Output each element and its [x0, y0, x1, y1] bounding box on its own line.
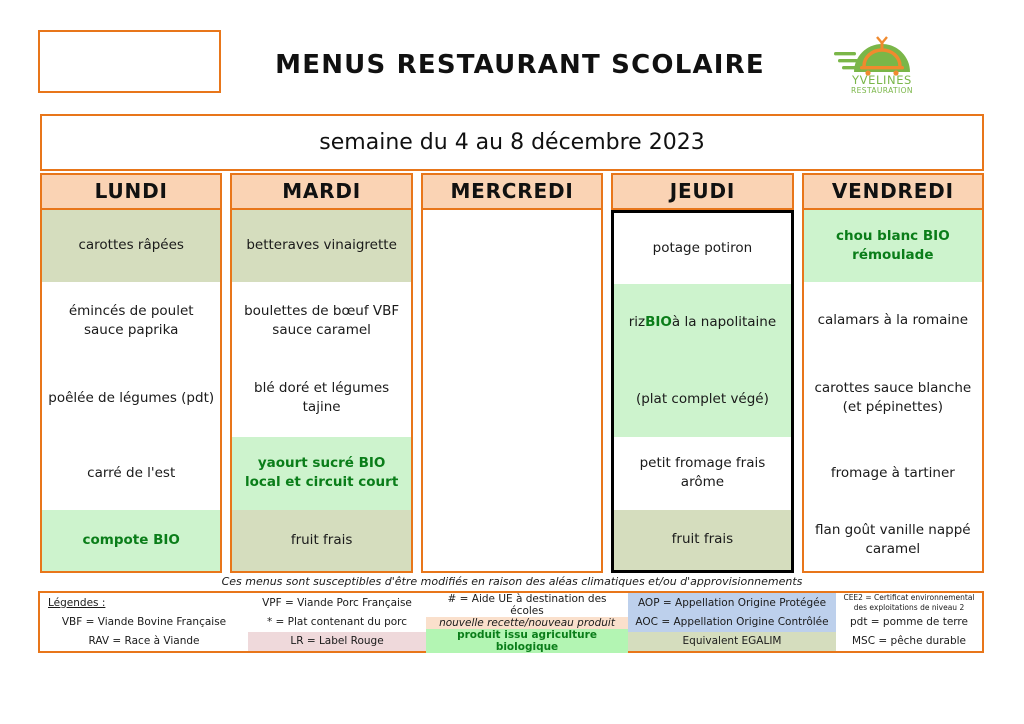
menu-item: carottes râpées: [42, 210, 220, 282]
menu-item: carré de l'est: [42, 437, 220, 510]
legend-entry: * = Plat contenant du porc: [248, 612, 426, 631]
menu-item: émincés de poulet sauce paprika: [42, 282, 220, 359]
legend-column-1: VPF = Viande Porc Française* = Plat cont…: [248, 593, 426, 651]
menu-item: [423, 437, 601, 510]
week-banner: semaine du 4 au 8 décembre 2023: [40, 114, 984, 171]
day-body-mercredi: [421, 210, 603, 573]
menu-item: [423, 510, 601, 571]
menu-item: blé doré et légumes tajine: [232, 359, 410, 436]
legend-entry: Légendes :: [40, 593, 248, 612]
menu-item: petit fromage frais arôme: [614, 437, 790, 509]
day-column-mardi: MARDIbetteraves vinaigretteboulettes de …: [230, 173, 412, 573]
day-header-mardi: MARDI: [230, 173, 412, 210]
day-column-vendredi: VENDREDIchou blanc BIO rémouladecalamars…: [802, 173, 984, 573]
legend-entry: AOP = Appellation Origine Protégée: [628, 593, 836, 612]
brand-name-line2: RESTAURATION: [851, 86, 913, 95]
menu-item: compote BIO: [42, 510, 220, 571]
school-logo-placeholder-box: [38, 30, 221, 93]
menu-item: [423, 359, 601, 436]
day-header-lundi: LUNDI: [40, 173, 222, 210]
day-body-jeudi: potage potironriz BIO à la napolitaine(p…: [611, 210, 793, 573]
menu-item: yaourt sucré BIO local et circuit court: [232, 437, 410, 510]
menu-item: potage potiron: [614, 213, 790, 284]
legend-entry: RAV = Race à Viande: [40, 632, 248, 651]
legend-entry: nouvelle recette/nouveau produit: [426, 617, 628, 629]
legend-column-2: # = Aide UE à destination des écolesnouv…: [426, 593, 628, 651]
legend-entry: VPF = Viande Porc Française: [248, 593, 426, 612]
menu-item: fruit frais: [232, 510, 410, 571]
menu-item: calamars à la romaine: [804, 282, 982, 359]
menu-item: betteraves vinaigrette: [232, 210, 410, 282]
page-title: MENUS RESTAURANT SCOLAIRE: [240, 50, 800, 80]
menu-item: poêlée de légumes (pdt): [42, 359, 220, 436]
legend-column-3: AOP = Appellation Origine ProtégéeAOC = …: [628, 593, 836, 651]
menu-grid: LUNDIcarottes râpéesémincés de poulet sa…: [40, 173, 984, 573]
day-header-jeudi: JEUDI: [611, 173, 793, 210]
legend-entry: pdt = pomme de terre: [836, 612, 982, 631]
day-body-lundi: carottes râpéesémincés de poulet sauce p…: [40, 210, 222, 573]
menu-item: riz BIO à la napolitaine: [614, 284, 790, 361]
menu-item: fruit frais: [614, 510, 790, 570]
menu-item: [423, 210, 601, 282]
week-label: semaine du 4 au 8 décembre 2023: [42, 116, 982, 169]
menu-item: (plat complet végé): [614, 361, 790, 438]
menu-item: fromage à tartiner: [804, 437, 982, 510]
legend-entry: # = Aide UE à destination des écoles: [426, 593, 628, 617]
menu-item: chou blanc BIO rémoulade: [804, 210, 982, 282]
menu-disclaimer: Ces menus sont susceptibles d'être modif…: [40, 575, 984, 588]
legend-entry: CEE2 = Certificat environnemental des ex…: [836, 593, 982, 612]
legend-entry: MSC = pêche durable: [836, 632, 982, 651]
day-column-lundi: LUNDIcarottes râpéesémincés de poulet sa…: [40, 173, 222, 573]
day-column-mercredi: MERCREDI: [421, 173, 603, 573]
bio-marker: BIO: [645, 313, 672, 332]
day-column-jeudi: JEUDIpotage potironriz BIO à la napolita…: [611, 173, 793, 573]
legend-title: Légendes :: [48, 597, 105, 609]
menu-item: boulettes de bœuf VBF sauce caramel: [232, 282, 410, 359]
legend-entry: Equivalent EGALIM: [628, 632, 836, 651]
day-body-mardi: betteraves vinaigretteboulettes de bœuf …: [230, 210, 412, 573]
menu-item: [423, 282, 601, 359]
day-header-mercredi: MERCREDI: [421, 173, 603, 210]
page-header: MENUS RESTAURANT SCOLAIRE YVELINES RESTA…: [0, 0, 1024, 112]
day-header-vendredi: VENDREDI: [802, 173, 984, 210]
legend-column-4: CEE2 = Certificat environnemental des ex…: [836, 593, 982, 651]
legend-entry: AOC = Appellation Origine Contrôlée: [628, 612, 836, 631]
legend-entry: LR = Label Rouge: [248, 632, 426, 651]
day-body-vendredi: chou blanc BIO rémouladecalamars à la ro…: [802, 210, 984, 573]
yvelines-restauration-logo: YVELINES RESTAURATION: [832, 16, 932, 96]
legend-entry: produit issu agriculture biologique: [426, 629, 628, 653]
legend-column-0: Légendes :VBF = Viande Bovine FrançaiseR…: [40, 593, 248, 651]
menu-item: flan goût vanille nappé caramel: [804, 510, 982, 571]
brand-name-line1: YVELINES: [851, 73, 912, 87]
menu-item: carottes sauce blanche (et pépinettes): [804, 359, 982, 436]
legend-entry: VBF = Viande Bovine Française: [40, 612, 248, 631]
legend-table: Légendes :VBF = Viande Bovine FrançaiseR…: [38, 591, 984, 653]
